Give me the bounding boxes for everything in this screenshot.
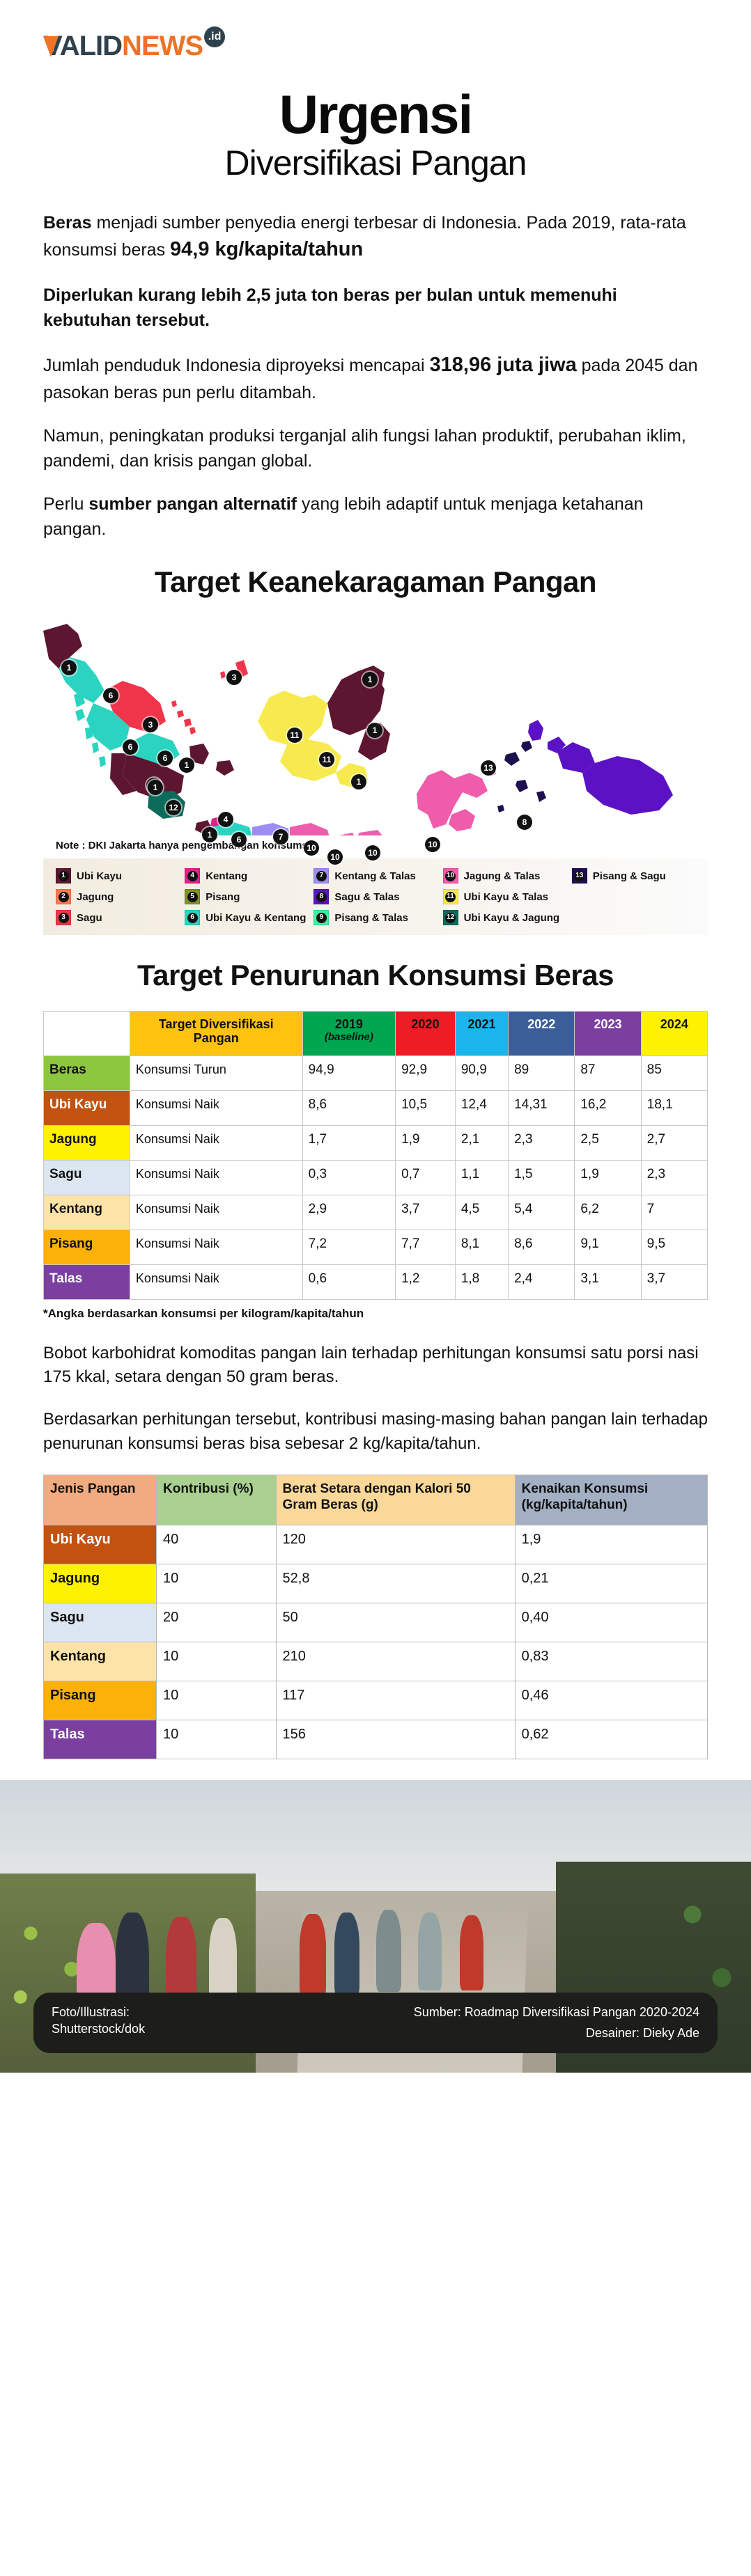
table1-row-name: Sagu (44, 1160, 130, 1195)
map-legend: 1Ubi Kayu2Jagung3Sagu4Kentang5Pisang6Ubi… (43, 858, 708, 935)
mid-paragraph-2: Berdasarkan perhitungan tersebut, kontri… (43, 1408, 708, 1456)
legend-color-chip: 9 (313, 910, 329, 925)
table2-cell-kontribusi: 10 (157, 1642, 277, 1681)
legend-column-2: 4Kentang5Pisang6Ubi Kayu & Kentang (185, 868, 311, 925)
table2-cell-berat: 117 (276, 1681, 515, 1720)
legend-color-chip: 5 (185, 889, 200, 904)
table1-col-label: Target Diversifikasi Pangan (159, 1017, 274, 1046)
legend-color-chip: 8 (313, 889, 329, 904)
legend-color-chip: 11 (443, 889, 458, 904)
legend-column-5: 13Pisang & Sagu (572, 868, 698, 925)
table2-cell-berat: 210 (276, 1642, 515, 1681)
table2-cell-berat: 50 (276, 1603, 515, 1642)
table1-col-header-2: 2019(baseline) (302, 1011, 395, 1055)
table2-cell-kenaikan: 0,83 (515, 1642, 707, 1681)
footer-designer: Desainer: Dieky Ade (414, 2025, 699, 2041)
table1-cell-3: 8,6 (509, 1230, 575, 1264)
table1-cell-1: 3,7 (396, 1195, 456, 1230)
footer-credit-bar: Foto/Illustrasi: Shutterstock/dok Sumber… (33, 1993, 718, 2053)
table-row: Ubi Kayu401201,9 (44, 1525, 708, 1564)
table1-cell-4: 2,5 (575, 1125, 641, 1160)
table1-cell-1: 0,7 (396, 1160, 456, 1195)
table1-cell-1: 1,9 (396, 1125, 456, 1160)
table1-row-target: Konsumsi Naik (130, 1264, 302, 1299)
table2-col-header-2: Berat Setara dengan Kalori 50 Gram Beras… (276, 1475, 515, 1525)
table1-header-row: Target Diversifikasi Pangan2019(baseline… (44, 1011, 708, 1055)
table1-row-target: Konsumsi Naik (130, 1230, 302, 1264)
table1-cell-3: 5,4 (509, 1195, 575, 1230)
table-row: Ubi KayuKonsumsi Naik8,610,512,414,3116,… (44, 1090, 708, 1125)
photo-person-6 (334, 1913, 359, 1996)
legend-item-ubi-kayu: 1Ubi Kayu (56, 868, 182, 883)
legend-item-sagu-talas: 8Sagu & Talas (313, 889, 440, 904)
table2-cell-kenaikan: 1,9 (515, 1525, 707, 1564)
table-row: Jagung1052,80,21 (44, 1564, 708, 1603)
table1-cell-0: 94,9 (302, 1055, 395, 1090)
table2-cell-kontribusi: 10 (157, 1681, 277, 1720)
intro-paragraph-5: Perlu sumber pangan alternatif yang lebi… (43, 492, 708, 542)
intro-p1-lead: Beras (43, 213, 92, 233)
table1-cell-2: 2,1 (455, 1125, 508, 1160)
table1-cell-3: 1,5 (509, 1160, 575, 1195)
legend-label: Pisang & Talas (334, 912, 408, 924)
table1-row-name: Talas (44, 1264, 130, 1299)
photo-person-8 (418, 1913, 442, 1990)
legend-label: Ubi Kayu (77, 870, 122, 882)
table2-col-header-1: Kontribusi (%) (157, 1475, 277, 1525)
table2-row-name: Ubi Kayu (44, 1525, 157, 1564)
legend-item-pisang-sagu: 13Pisang & Sagu (572, 868, 698, 883)
table-row: SaguKonsumsi Naik0,30,71,11,51,92,3 (44, 1160, 708, 1195)
table1-col-header-4: 2021 (455, 1011, 508, 1055)
map-region-ntb (357, 830, 385, 835)
table1-row-target: Konsumsi Naik (130, 1195, 302, 1230)
photo-person-7 (376, 1910, 401, 1992)
map-region-jatim (290, 823, 330, 835)
table1-cell-4: 1,9 (575, 1160, 641, 1195)
validnews-logo: VALIDNEWS.id (43, 32, 225, 60)
table2-col-header-3: Kenaikan Konsumsi (kg/kapita/tahun) (515, 1475, 707, 1525)
table2-header-row: Jenis PanganKontribusi (%)Berat Setara d… (44, 1475, 708, 1525)
table2-cell-kenaikan: 0,40 (515, 1603, 707, 1642)
legend-label: Pisang & Sagu (593, 870, 666, 882)
table1-col-sublabel: (baseline) (309, 1031, 389, 1043)
table1-cell-2: 1,8 (455, 1264, 508, 1299)
table1-col-header-0 (44, 1011, 130, 1055)
table1-cell-2: 8,1 (455, 1230, 508, 1264)
table2-cell-kenaikan: 0,62 (515, 1720, 707, 1759)
brand-header: VALIDNEWS.id (0, 0, 751, 60)
legend-label: Jagung & Talas (464, 870, 541, 882)
map-island-riau-kep (171, 700, 196, 735)
legend-number-badge: 8 (316, 892, 327, 902)
table1-body: BerasKonsumsi Turun94,992,990,9898785Ubi… (44, 1055, 708, 1299)
logo-wedge-icon (43, 36, 59, 57)
legend-number-badge: 11 (445, 892, 456, 902)
table1-col-label: 2022 (527, 1017, 555, 1031)
legend-color-chip: 7 (313, 868, 329, 883)
table1-cell-0: 2,9 (302, 1195, 395, 1230)
table-row: Pisang101170,46 (44, 1681, 708, 1720)
legend-color-chip: 13 (572, 868, 587, 883)
table1-cell-4: 3,1 (575, 1264, 641, 1299)
legend-color-chip: 2 (56, 889, 71, 904)
legend-number-badge: 9 (316, 913, 327, 923)
table2-col-header-0: Jenis Pangan (44, 1475, 157, 1525)
table-row: BerasKonsumsi Turun94,992,990,9898785 (44, 1055, 708, 1090)
table1-cell-3: 89 (509, 1055, 575, 1090)
infographic-page: VALIDNEWS.id Urgensi Diversifikasi Panga… (0, 0, 751, 2576)
table1-cell-1: 7,7 (396, 1230, 456, 1264)
table1-col-header-3: 2020 (396, 1011, 456, 1055)
table1-col-label: 2023 (594, 1017, 621, 1031)
table1-cell-2: 4,5 (455, 1195, 508, 1230)
legend-label: Ubi Kayu & Talas (464, 891, 548, 903)
map-island-small-2 (497, 805, 504, 812)
legend-label: Kentang & Talas (334, 870, 415, 882)
legend-item-ubi-kayu-talas: 11Ubi Kayu & Talas (443, 889, 569, 904)
table1-cell-0: 7,2 (302, 1230, 395, 1264)
footer-source: Sumber: Roadmap Diversifikasi Pangan 202… (414, 2004, 699, 2020)
legend-number-badge: 2 (59, 892, 69, 902)
mid-paragraphs: Bobot karbohidrat komoditas pangan lain … (43, 1342, 708, 1456)
legend-label: Kentang (206, 870, 247, 882)
map-note: Note : DKI Jakarta hanya pengembangan ko… (56, 840, 751, 851)
table1-cell-5: 9,5 (641, 1230, 707, 1264)
intro-paragraph-3: Jumlah penduduk Indonesia diproyeksi men… (43, 351, 708, 405)
page-title: Urgensi (0, 88, 751, 141)
intro-paragraphs: Beras menjadi sumber penyedia energi ter… (43, 210, 708, 542)
legend-number-badge: 10 (445, 871, 456, 881)
legend-item-sagu: 3Sagu (56, 910, 182, 925)
intro-p1-body: menjadi sumber penyedia energi terbesar … (43, 213, 686, 260)
indonesia-map-svg (0, 606, 751, 835)
table1-col-header-7: 2024 (641, 1011, 707, 1055)
table1-cell-4: 16,2 (575, 1090, 641, 1125)
table1-row-name: Beras (44, 1055, 130, 1090)
table1-row-name: Kentang (44, 1195, 130, 1230)
legend-label: Sagu (77, 912, 102, 924)
table1-heading: Target Penurunan Konsumsi Beras (63, 959, 688, 992)
legend-item-ubi-kayu-kentang: 6Ubi Kayu & Kentang (185, 910, 311, 925)
map-region-bali (337, 833, 357, 835)
table1-col-header-1: Target Diversifikasi Pangan (130, 1011, 302, 1055)
table-row: JagungKonsumsi Naik1,71,92,12,32,52,7 (44, 1125, 708, 1160)
legend-item-jagung-talas: 10Jagung & Talas (443, 868, 569, 883)
table1-col-label: 2021 (467, 1017, 495, 1031)
table1-cell-1: 10,5 (396, 1090, 456, 1125)
table1-cell-5: 2,7 (641, 1125, 707, 1160)
table1-row-name: Pisang (44, 1230, 130, 1264)
table1-wrapper: Target Diversifikasi Pangan2019(baseline… (43, 1011, 708, 1300)
table2-cell-kontribusi: 10 (157, 1564, 277, 1603)
logo-tld-badge: .id (204, 26, 225, 47)
legend-item-pisang-talas: 9Pisang & Talas (313, 910, 440, 925)
legend-label: Sagu & Talas (334, 891, 399, 903)
table1-row-target: Konsumsi Naik (130, 1125, 302, 1160)
intro-paragraph-4: Namun, peningkatan produksi terganjal al… (43, 423, 708, 473)
footer-photo-credit-line2: Shutterstock/dok (52, 2020, 145, 2037)
legend-item-jagung: 2Jagung (56, 889, 182, 904)
intro-p1-highlight: 94,9 kg/kapita/tahun (170, 238, 363, 260)
table1-row-target: Konsumsi Naik (130, 1160, 302, 1195)
table1-row-target: Konsumsi Turun (130, 1055, 302, 1090)
indonesia-map: 163661112311111111416710101010813 (0, 606, 751, 835)
legend-item-kentang: 4Kentang (185, 868, 311, 883)
table2-cell-berat: 120 (276, 1525, 515, 1564)
table2-cell-berat: 52,8 (276, 1564, 515, 1603)
table2-row-name: Talas (44, 1720, 157, 1759)
legend-label: Ubi Kayu & Jagung (464, 912, 560, 924)
target-penurunan-konsumsi-beras-table: Target Diversifikasi Pangan2019(baseline… (43, 1011, 708, 1300)
table1-cell-2: 90,9 (455, 1055, 508, 1090)
table1-row-name: Jagung (44, 1125, 130, 1160)
intro-p3-highlight: 318,96 juta jiwa (430, 354, 577, 376)
table-row: KentangKonsumsi Naik2,93,74,55,46,27 (44, 1195, 708, 1230)
map-region-belitung (216, 760, 234, 776)
table1-cell-3: 14,31 (509, 1090, 575, 1125)
table1-col-label: 2024 (660, 1017, 688, 1031)
table1-cell-0: 0,6 (302, 1264, 395, 1299)
legend-number-badge: 1 (59, 871, 69, 881)
map-region-sultra (449, 809, 475, 831)
intro-paragraph-2: Diperlukan kurang lebih 2,5 juta ton ber… (43, 283, 708, 333)
table1-cell-5: 7 (641, 1195, 707, 1230)
table1-cell-4: 6,2 (575, 1195, 641, 1230)
logo-news-text: NEWS (122, 32, 203, 60)
map-section-heading: Target Keanekaragaman Pangan (63, 565, 688, 599)
mid-paragraph-1: Bobot karbohidrat komoditas pangan lain … (43, 1342, 708, 1390)
legend-color-chip: 3 (56, 910, 71, 925)
legend-column-1: 1Ubi Kayu2Jagung3Sagu (56, 868, 182, 925)
table2-row-name: Jagung (44, 1564, 157, 1603)
legend-color-chip: 1 (56, 868, 71, 883)
intro-p3-body-a: Jumlah penduduk Indonesia diproyeksi men… (43, 356, 430, 375)
table2-cell-kontribusi: 10 (157, 1720, 277, 1759)
legend-label: Pisang (206, 891, 240, 903)
table1-cell-1: 92,9 (396, 1055, 456, 1090)
legend-column-3: 7Kentang & Talas8Sagu & Talas9Pisang & T… (313, 868, 440, 925)
table1-cell-0: 1,7 (302, 1125, 395, 1160)
intro-paragraph-1: Beras menjadi sumber penyedia energi ter… (43, 210, 708, 265)
table1-cell-5: 18,1 (641, 1090, 707, 1125)
kontribusi-pangan-table: Jenis PanganKontribusi (%)Berat Setara d… (43, 1475, 708, 1759)
table1-cell-3: 2,4 (509, 1264, 575, 1299)
legend-number-badge: 6 (187, 913, 198, 923)
legend-number-badge: 5 (187, 892, 198, 902)
table1-cell-5: 3,7 (641, 1264, 707, 1299)
table2-row-name: Kentang (44, 1642, 157, 1681)
table1-cell-5: 85 (641, 1055, 707, 1090)
table1-col-label: 2019 (335, 1017, 363, 1031)
table1-col-header-5: 2022 (509, 1011, 575, 1055)
table1-cell-1: 1,2 (396, 1264, 456, 1299)
intro-p5-body-a: Perlu (43, 494, 88, 514)
table-row: TalasKonsumsi Naik0,61,21,82,43,13,7 (44, 1264, 708, 1299)
map-island-maluku (504, 741, 546, 802)
legend-item-kentang-talas: 7Kentang & Talas (313, 868, 440, 883)
legend-color-chip: 6 (185, 910, 200, 925)
table1-cell-3: 2,3 (509, 1125, 575, 1160)
table1-note: *Angka berdasarkan konsumsi per kilogram… (43, 1307, 708, 1321)
table1-col-label: 2020 (411, 1017, 439, 1031)
table2-cell-kenaikan: 0,46 (515, 1681, 707, 1720)
table1-cell-0: 8,6 (302, 1090, 395, 1125)
table1-cell-0: 0,3 (302, 1160, 395, 1195)
table-row: Sagu20500,40 (44, 1603, 708, 1642)
map-island-halmahera (528, 720, 543, 741)
table2-wrapper: Jenis PanganKontribusi (%)Berat Setara d… (43, 1475, 708, 1759)
legend-column-4: 10Jagung & Talas11Ubi Kayu & Talas12Ubi … (443, 868, 569, 925)
legend-label: Ubi Kayu & Kentang (206, 912, 306, 924)
legend-number-badge: 4 (187, 871, 198, 881)
table1-cell-2: 12,4 (455, 1090, 508, 1125)
table1-row-name: Ubi Kayu (44, 1090, 130, 1125)
legend-item-ubi-kayu-jagung: 12Ubi Kayu & Jagung (443, 910, 569, 925)
table-row: Talas101560,62 (44, 1720, 708, 1759)
footer-source-block: Sumber: Roadmap Diversifikasi Pangan 202… (414, 2004, 699, 2042)
footer-photo-credit-line1: Foto/Illustrasi: (52, 2004, 145, 2020)
map-region-papua (582, 756, 673, 815)
table2-row-name: Sagu (44, 1603, 157, 1642)
table2-row-name: Pisang (44, 1681, 157, 1720)
page-subtitle: Diversifikasi Pangan (0, 143, 751, 182)
table1-cell-4: 9,1 (575, 1230, 641, 1264)
map-marker-10: 10 (304, 840, 319, 856)
photo-person-9 (460, 1915, 483, 1990)
table2-cell-kontribusi: 40 (157, 1525, 277, 1564)
table2-cell-kenaikan: 0,21 (515, 1564, 707, 1603)
table1-cell-4: 87 (575, 1055, 641, 1090)
table1-col-header-6: 2023 (575, 1011, 641, 1055)
table-row: Kentang102100,83 (44, 1642, 708, 1681)
page-title-block: Urgensi Diversifikasi Pangan (0, 88, 751, 182)
legend-label: Jagung (77, 891, 114, 903)
legend-number-badge: 12 (445, 913, 456, 923)
legend-number-badge: 13 (574, 871, 584, 881)
table1-cell-2: 1,1 (455, 1160, 508, 1195)
legend-item-pisang: 5Pisang (185, 889, 311, 904)
legend-number-badge: 3 (59, 913, 69, 923)
legend-number-badge: 7 (316, 871, 327, 881)
legend-color-chip: 10 (443, 868, 458, 883)
table2-body: Ubi Kayu401201,9Jagung1052,80,21Sagu2050… (44, 1525, 708, 1759)
legend-color-chip: 4 (185, 868, 200, 883)
table2-cell-berat: 156 (276, 1720, 515, 1759)
footer-photo-credit: Foto/Illustrasi: Shutterstock/dok (52, 2004, 145, 2038)
table1-cell-5: 2,3 (641, 1160, 707, 1195)
table-row: PisangKonsumsi Naik7,27,78,18,69,19,5 (44, 1230, 708, 1264)
table2-cell-kontribusi: 20 (157, 1603, 277, 1642)
legend-color-chip: 12 (443, 910, 458, 925)
market-photo: Foto/Illustrasi: Shutterstock/dok Sumber… (0, 1780, 751, 2073)
photo-person-5 (300, 1914, 326, 1997)
intro-p5-highlight: sumber pangan alternatif (88, 494, 297, 514)
table1-row-target: Konsumsi Naik (130, 1090, 302, 1125)
logo-valid-text: VALID (43, 32, 122, 60)
